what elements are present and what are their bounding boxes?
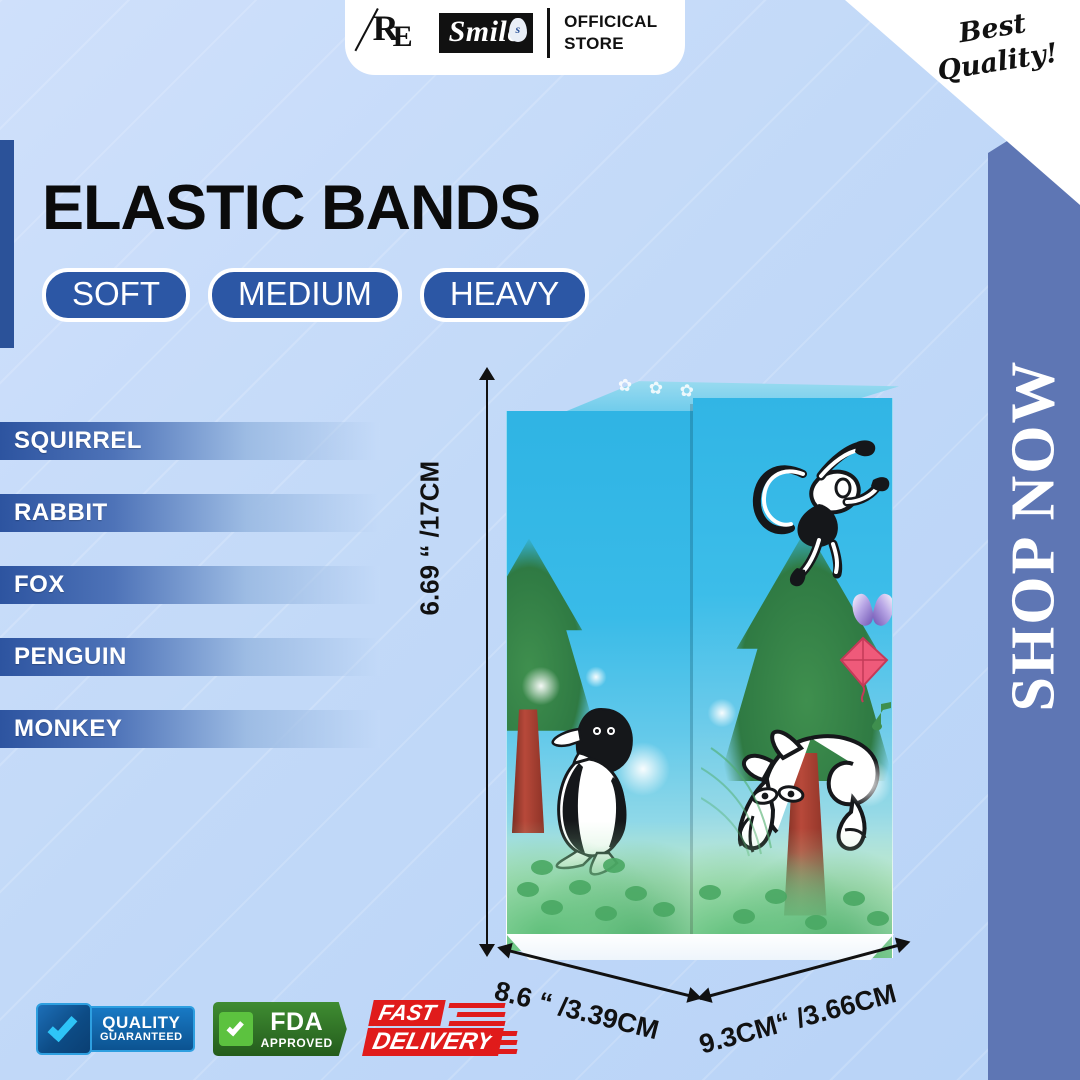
speed-line-icon: [456, 1012, 505, 1017]
delivery-text: DELIVERY: [362, 1028, 504, 1056]
tooth-icon: s: [509, 18, 527, 42]
quality-line1: QUALITY: [100, 1014, 183, 1032]
box-side-panel: [506, 411, 693, 951]
height-dimension-label: 6.69 “ /17CM: [415, 536, 446, 616]
feature-label-monkey: MONKEY: [0, 715, 122, 743]
speed-line-icon: [448, 1021, 505, 1026]
speed-line-icon: [496, 1040, 517, 1045]
fda-line1: FDA: [261, 1010, 333, 1035]
sparkle-decor: [843, 758, 893, 808]
animal-feature-list: SQUIRREL RABBIT FOX PENGUIN MONKEY: [0, 422, 380, 782]
speed-line-icon: [490, 1049, 517, 1054]
leaf-decor: [569, 880, 591, 895]
speed-line-icon: [490, 1031, 517, 1036]
leaf-decor: [805, 915, 827, 930]
box-base-face: [506, 934, 894, 960]
sparkle-decor: [521, 666, 561, 706]
strength-pill-medium[interactable]: MEDIUM: [208, 268, 402, 322]
trust-badges: QUALITY GUARANTEED FDA APPROVED FAST DEL…: [36, 1000, 515, 1058]
official-store-line1: OFFICICAL: [564, 11, 657, 32]
leaf-decor: [625, 886, 647, 901]
list-item: FOX: [0, 566, 380, 604]
list-item: RABBIT: [0, 494, 380, 532]
fda-line2: APPROVED: [261, 1037, 333, 1049]
quality-line2: GUARANTEED: [100, 1032, 183, 1044]
leaf-decor: [699, 885, 721, 900]
quality-guaranteed-text: QUALITY GUARANTEED: [82, 1006, 195, 1051]
box-front-panel: [693, 398, 893, 958]
music-note-icon: [861, 698, 893, 732]
feature-label-rabbit: RABBIT: [0, 499, 108, 527]
logo-divider: [547, 8, 550, 58]
logo-wordmark: Smile s: [439, 13, 534, 53]
leaf-decor: [843, 891, 865, 906]
feature-label-penguin: PENGUIN: [0, 643, 127, 671]
page-title: ELASTIC BANDS: [42, 172, 540, 244]
shop-now-label: SHOP NOW: [999, 359, 1070, 711]
leaf-decor: [595, 906, 617, 921]
monkey-illustration: [741, 440, 891, 600]
sparkle-decor: [585, 666, 607, 688]
list-item: PENGUIN: [0, 638, 380, 676]
store-logo-badge[interactable]: R E Smile s OFFICICAL STORE: [345, 0, 685, 75]
strength-pill-heavy[interactable]: HEAVY: [420, 268, 589, 322]
strength-pill-soft[interactable]: SOFT: [42, 268, 190, 322]
re-monogram-icon: R E: [373, 12, 425, 54]
depth-dimension-label: 8.6 “ /3.39CM: [491, 975, 662, 1046]
feature-label-squirrel: SQUIRREL: [0, 427, 142, 455]
fda-approved-badge: FDA APPROVED: [213, 1002, 347, 1056]
checkmark-icon: [36, 1003, 92, 1055]
fda-approved-text: FDA APPROVED: [261, 1010, 333, 1049]
height-dimension-arrow: [486, 378, 488, 946]
logo-letter-e: E: [393, 22, 412, 52]
speed-line-icon: [448, 1003, 505, 1008]
strength-options: SOFT MEDIUM HEAVY: [42, 268, 589, 322]
kite-illustration: [833, 634, 893, 704]
leaf-decor: [541, 900, 563, 915]
shop-now-label-wrapper[interactable]: SHOP NOW: [988, 95, 1080, 975]
list-item: MONKEY: [0, 710, 380, 748]
leaf-decor: [733, 909, 755, 924]
check-icon: [219, 1012, 253, 1046]
feature-label-fox: FOX: [0, 571, 65, 599]
official-store-label: OFFICICAL STORE: [564, 11, 657, 54]
leaf-decor: [531, 860, 553, 875]
sparkle-decor: [707, 698, 737, 728]
fast-delivery-badge: FAST DELIVERY: [365, 1000, 515, 1058]
leaf-decor: [765, 889, 787, 904]
leaf-decor: [653, 902, 675, 917]
list-item: SQUIRREL: [0, 422, 380, 460]
leaf-decor: [867, 911, 889, 926]
butterfly-illustration: [853, 594, 893, 628]
leaf-decor: [517, 882, 539, 897]
product-box-image: ✿ ✿ ✿: [497, 378, 897, 953]
official-store-line2: STORE: [564, 33, 657, 54]
left-accent-bar: [0, 140, 14, 348]
box-corner-edge: [690, 404, 693, 949]
leaf-decor: [603, 858, 625, 873]
fast-text: FAST: [368, 1000, 446, 1026]
quality-guaranteed-badge: QUALITY GUARANTEED: [36, 1001, 195, 1057]
